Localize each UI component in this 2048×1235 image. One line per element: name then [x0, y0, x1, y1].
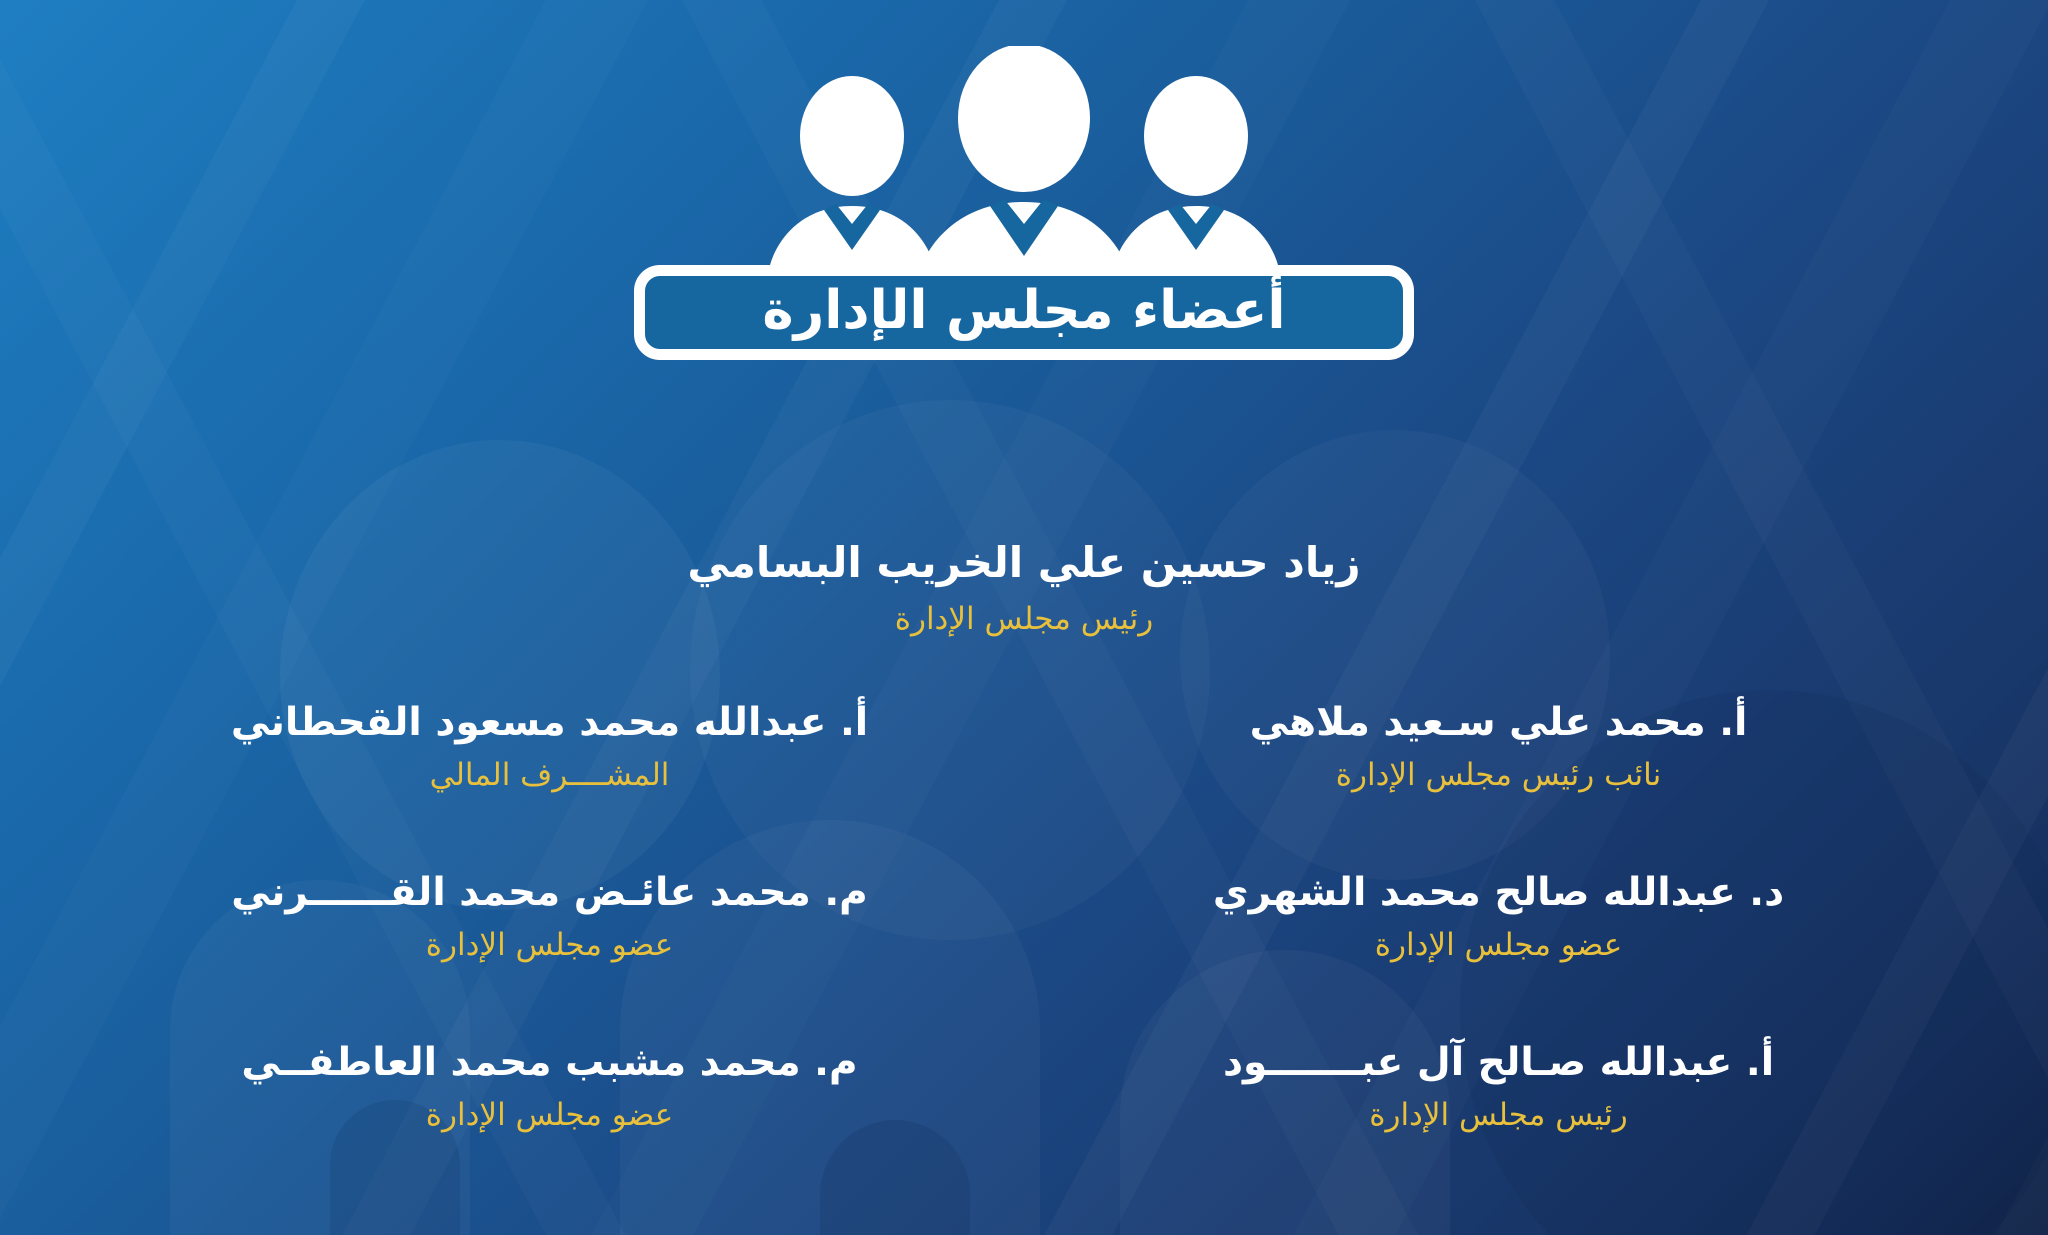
- member-vice-chairman: أ. محمد علي سـعيد ملاهي نائب رئيس مجلس ا…: [1059, 700, 1938, 870]
- member-role: نائب رئيس مجلس الإدارة: [1059, 755, 1938, 795]
- member-name: أ. عبدالله صـالح آل عبـــــــود: [1059, 1040, 1938, 1086]
- member-name: أ. عبدالله محمد مسعود القحطاني: [110, 700, 989, 746]
- member-name: م. محمد عائـض محمد القــــــرني: [110, 870, 989, 916]
- member-board-5: م. محمد مشبب محمد العاطفــي عضو مجلس الإ…: [110, 1040, 989, 1210]
- member-board-4: أ. عبدالله صـالح آل عبـــــــود رئيس مجل…: [1059, 1040, 1938, 1210]
- title-badge: أعضاء مجلس الإدارة: [634, 265, 1414, 360]
- member-role: عضو مجلس الإدارة: [110, 1095, 989, 1135]
- slide-header: أعضاء مجلس الإدارة: [0, 0, 2048, 400]
- member-role: رئيس مجلس الإدارة: [0, 599, 2048, 639]
- members-grid: أ. محمد علي سـعيد ملاهي نائب رئيس مجلس ا…: [110, 700, 1938, 1210]
- three-people-icon: [764, 46, 1284, 276]
- member-name: م. محمد مشبب محمد العاطفــي: [110, 1040, 989, 1086]
- member-role: المشــــرف المالي: [110, 755, 989, 795]
- member-board-2: د. عبدالله صالح محمد الشهري عضو مجلس الإ…: [1059, 870, 1938, 1040]
- member-role: عضو مجلس الإدارة: [110, 925, 989, 965]
- member-financial-supervisor: أ. عبدالله محمد مسعود القحطاني المشــــر…: [110, 700, 989, 870]
- page-title: أعضاء مجلس الإدارة: [762, 284, 1285, 337]
- member-role: رئيس مجلس الإدارة: [1059, 1095, 1938, 1135]
- member-role: عضو مجلس الإدارة: [1059, 925, 1938, 965]
- member-name: أ. محمد علي سـعيد ملاهي: [1059, 700, 1938, 746]
- member-name: زياد حسين علي الخريب البسامي: [0, 538, 2048, 588]
- member-chairman: زياد حسين علي الخريب البسامي رئيس مجلس ا…: [0, 538, 2048, 639]
- member-board-3: م. محمد عائـض محمد القــــــرني عضو مجلس…: [110, 870, 989, 1040]
- board-of-directors-slide: أعضاء مجلس الإدارة زياد حسين علي الخريب …: [0, 0, 2048, 1235]
- member-name: د. عبدالله صالح محمد الشهري: [1059, 870, 1938, 916]
